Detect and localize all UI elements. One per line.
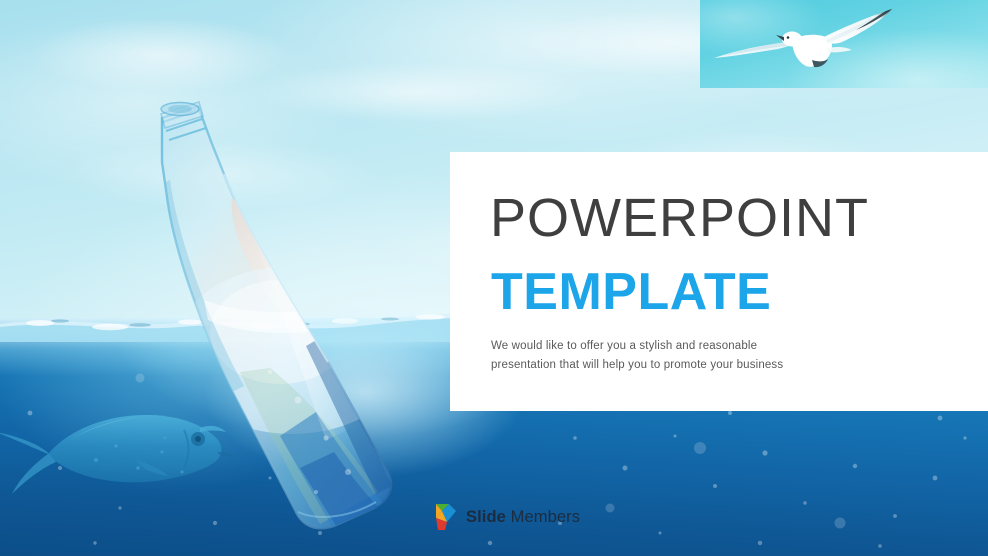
presentation-slide: POWERPOINT TEMPLATE We would like to off… [0, 0, 988, 556]
title-panel: POWERPOINT TEMPLATE We would like to off… [450, 152, 988, 411]
cloud-wisp [30, 18, 290, 92]
description-line-2: presentation that will help you to promo… [491, 356, 911, 375]
logo-wordmark: Slide Members [466, 509, 580, 526]
description-line-1: We would like to offer you a stylish and… [491, 337, 911, 356]
pinwheel-logo-icon [434, 502, 460, 532]
logo-word-members: Members [506, 508, 580, 526]
seagull-photo-patch [700, 0, 988, 88]
logo-word-slide: Slide [466, 508, 506, 526]
description-text: We would like to offer you a stylish and… [491, 337, 911, 375]
seagull-icon [700, 0, 988, 88]
page-title: POWERPOINT [490, 191, 869, 245]
slidemembers-logo[interactable]: Slide Members [434, 502, 580, 532]
page-subtitle-accent: TEMPLATE [491, 266, 771, 318]
